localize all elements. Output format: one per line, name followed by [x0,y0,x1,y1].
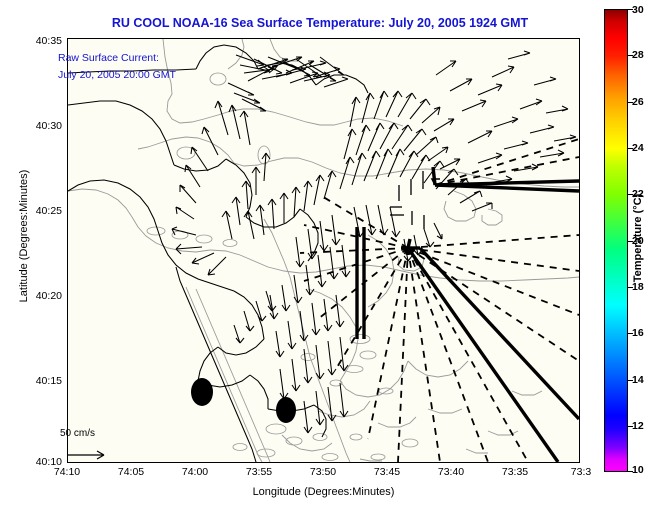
temperature-colorbar [604,9,628,472]
xtick-3: 73:55 [246,466,272,478]
ytick-4: 40:15 [36,375,62,387]
xtick-1: 74:05 [118,466,144,478]
sst-map-figure: RU COOL NOAA-16 Sea Surface Temperature:… [0,0,651,518]
xtick-7: 73:35 [502,466,528,478]
vector-scale-label: 50 cm/s [60,428,95,439]
colorbar-tick-30: 30 [632,4,644,16]
xtick-4: 73:50 [310,466,336,478]
ytick-1: 40:30 [36,120,62,132]
xtick-2: 74:00 [182,466,208,478]
station-marker [191,378,213,406]
station-marker [276,397,296,423]
colorbar-tick-26: 26 [632,96,644,108]
current-annotation-line1: Raw Surface Current: [58,52,159,64]
map-plot-area [67,38,580,463]
figure-title: RU COOL NOAA-16 Sea Surface Temperature:… [60,16,580,30]
xtick-6: 73:40 [438,466,464,478]
radar-fan-upper [390,167,579,229]
coastline [68,45,368,462]
map-canvas [68,39,579,462]
y-axis-label: Latitude (Degrees:Minutes) [18,126,30,346]
map-vector-layer [68,39,579,462]
colorbar-tick-12: 12 [632,420,644,432]
xtick-5: 73:45 [374,466,400,478]
colorbar-tick-10: 10 [632,464,644,476]
x-axis-label: Longitude (Degrees:Minutes) [67,486,580,498]
ytick-0: 40:35 [36,35,62,47]
ytick-3: 40:20 [36,290,62,302]
current-annotation-line2: July 20, 2005 20:00 GMT [58,69,176,81]
colorbar-label: Temperature (°C) [632,138,644,338]
colorbar-tick-14: 14 [632,374,644,386]
ytick-5: 40:10 [36,456,62,468]
colorbar-tick-28: 28 [632,49,644,61]
right-arrow-icon [66,448,112,462]
xtick-8: 73:3 [571,466,591,478]
ytick-2: 40:25 [36,205,62,217]
surface-current-vectors [172,51,576,433]
